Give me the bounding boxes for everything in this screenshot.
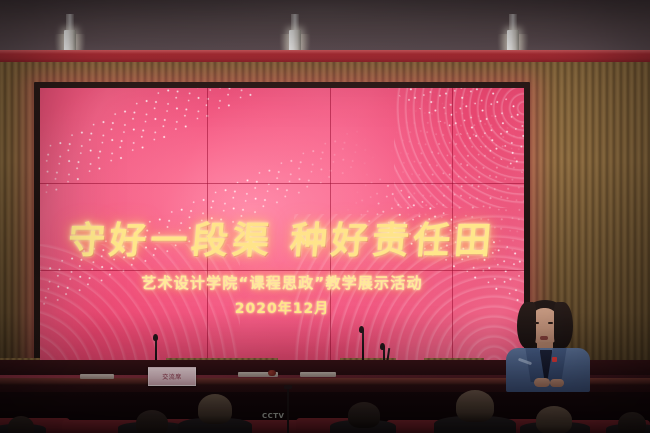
speaker-hair-right [554,302,573,348]
speaker-hand-right [550,379,564,387]
speaker-eye-left [534,322,539,324]
camera-tripod-head [284,385,292,389]
speaker-eye-right [548,322,553,324]
conference-hall-photo: 守好一段渠 种好责任田 艺术设计学院“课程思政”教学展示活动 2020年12月 … [0,0,650,433]
name-placard-label: 交流席 [162,372,182,381]
audience-head [8,416,34,433]
led-video-wall[interactable]: 守好一段渠 种好责任田 艺术设计学院“课程思政”教学展示活动 2020年12月 [40,88,524,364]
cup-icon [268,370,276,376]
documents-on-table [300,372,336,377]
microphone-head-icon [153,334,158,341]
banner-date: 2020年12月 [40,298,524,318]
microphone-head-icon [359,326,364,333]
panel-seam-horizontal [40,270,524,271]
speaker-badge [552,357,557,362]
ceiling-accent-highlight [0,50,650,54]
audience-head [198,394,232,424]
speaker-hair-left [517,302,536,348]
documents-on-table [80,374,114,379]
camera-tripod-pole [287,388,289,433]
speaker-person [500,300,596,390]
ceiling-shading [0,0,650,56]
microphone-head-icon [380,343,385,350]
banner-subtitle: 艺术设计学院“课程思政”教学展示活动 [40,272,524,293]
name-placard: 交流席 [148,367,196,386]
audience-head [618,412,646,433]
speaker-hand-left [534,378,550,387]
audience-head [348,402,380,428]
audience-head [456,390,494,422]
banner-title: 守好一段渠 种好责任田 [40,210,524,264]
camera-logo: CCTV [262,412,284,420]
audience-area [0,392,650,433]
microphone-stem [362,330,364,364]
panel-seam-horizontal [40,183,524,184]
audience-head [136,410,168,433]
speaker-mouth [540,336,548,340]
audience-head [536,406,572,433]
